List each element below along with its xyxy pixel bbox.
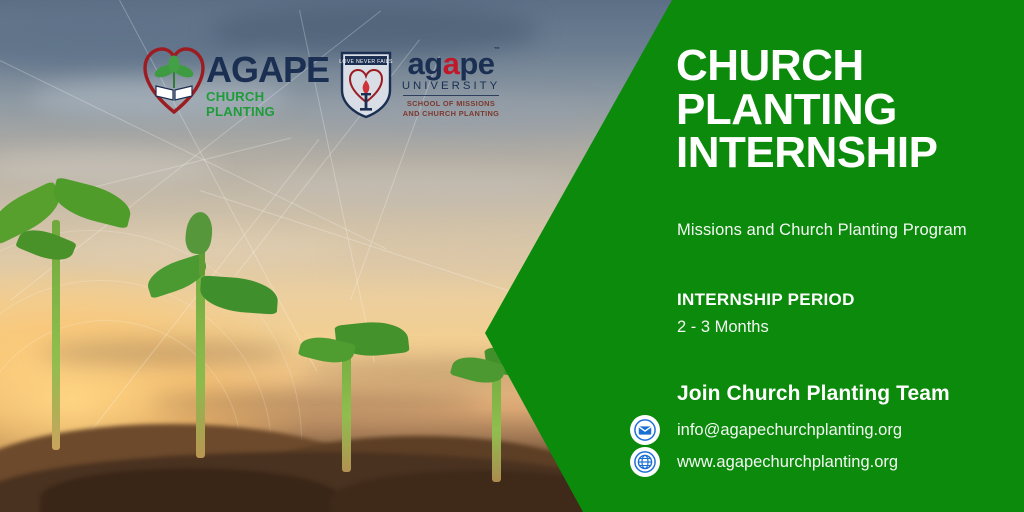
contact-website-text: www.agapechurchplanting.org	[677, 453, 898, 472]
wordmark-accent-letter: a	[443, 46, 460, 81]
logo-secondary-school-block: SCHOOL OF MISSIONS AND CHURCH PLANTING	[397, 99, 505, 119]
shield-with-heart-and-torch-icon: LOVE NEVER FAILS	[339, 50, 393, 120]
internship-period-label: INTERNSHIP PERIOD	[677, 290, 855, 310]
poster-content-panel: CHURCH PLANTING INTERNSHIP Missions and …	[676, 0, 1024, 512]
envelope-glyph	[634, 419, 656, 441]
school-line-2: AND CHURCH PLANTING	[397, 109, 505, 119]
logo-agape-university: LOVE NEVER FAILS agape™ UNIVERSITY SCHOO…	[339, 50, 499, 126]
headline-line-3: INTERNSHIP	[676, 131, 1006, 175]
logo-secondary-university-label: UNIVERSITY	[397, 80, 505, 92]
logo-primary-wordmark-block: AGAPE CHURCH PLANTING	[206, 52, 329, 119]
logo-primary-wordmark: AGAPE	[206, 52, 329, 88]
promotional-poster: AGAPE CHURCH PLANTING LOVE NEVER FAILS a…	[0, 0, 1024, 512]
page-title: CHURCH PLANTING INTERNSHIP	[676, 44, 1006, 175]
email-icon	[630, 415, 660, 445]
contact-row-website[interactable]: www.agapechurchplanting.org	[630, 447, 898, 477]
wordmark-part-1: ag	[407, 46, 442, 81]
seedling-leaf	[49, 177, 135, 229]
cloud-shape	[0, 150, 220, 184]
internship-period-value: 2 - 3 Months	[677, 318, 769, 337]
logo-primary-tagline: CHURCH PLANTING	[206, 89, 329, 119]
join-team-heading: Join Church Planting Team	[677, 382, 950, 406]
logo-secondary-wordmark: agape™	[397, 48, 505, 79]
contact-email-text: info@agapechurchplanting.org	[677, 421, 902, 440]
logo-secondary-wordmark-block: agape™ UNIVERSITY SCHOOL OF MISSIONS AND…	[397, 48, 505, 119]
headline-line-1: CHURCH	[676, 44, 1006, 88]
trademark-symbol: ™	[494, 47, 500, 53]
page-subtitle: Missions and Church Planting Program	[677, 221, 967, 240]
heart-with-plant-and-book-icon	[143, 46, 205, 116]
globe-glyph	[634, 451, 656, 473]
globe-icon	[630, 447, 660, 477]
wordmark-part-2: pe	[459, 46, 494, 81]
contact-row-email[interactable]: info@agapechurchplanting.org	[630, 415, 902, 445]
cloud-shape	[250, 170, 580, 204]
logo-agape-church-planting: AGAPE CHURCH PLANTING	[143, 46, 315, 120]
shield-motto-text: LOVE NEVER FAILS	[339, 59, 393, 65]
headline-line-2: PLANTING	[676, 88, 1006, 132]
logo-divider-rule	[403, 95, 499, 96]
school-line-1: SCHOOL OF MISSIONS	[397, 99, 505, 109]
